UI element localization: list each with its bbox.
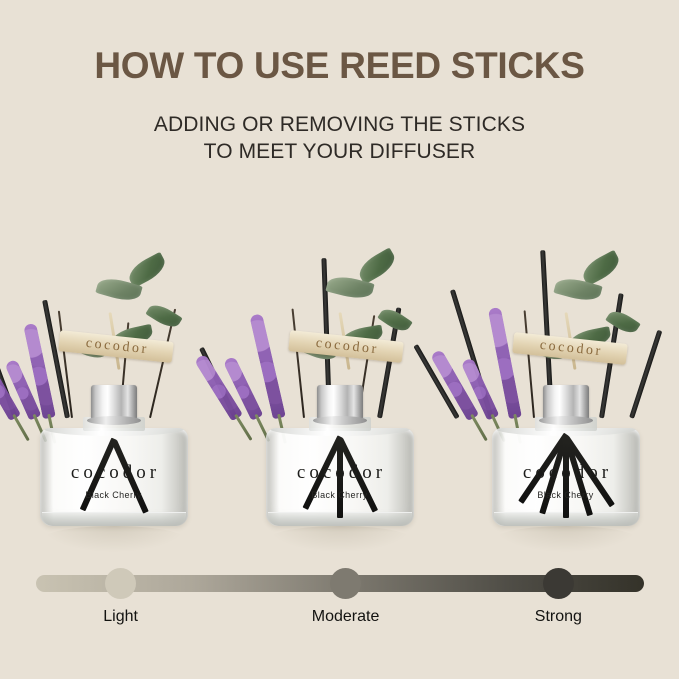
bottle-scent-label: Black Cherry — [492, 490, 640, 500]
slider-knob-moderate[interactable] — [330, 568, 361, 599]
slider-labels: Light Moderate Strong — [36, 608, 644, 630]
product-moderate: cocodor cocodor Black Cherry — [227, 208, 453, 558]
page-title: HOW TO USE REED STICKS — [0, 46, 679, 86]
bottle-cap — [543, 385, 589, 419]
bottle-cap — [317, 385, 363, 419]
subtitle-line-1: ADDING OR REMOVING THE STICKS — [0, 112, 679, 139]
product-row: cocodor cocodor Black Cherry — [0, 208, 679, 558]
diffuser-bottle-moderate: cocodor Black Cherry — [266, 385, 414, 526]
bottle-body: cocodor Black Cherry — [492, 428, 640, 526]
slider-track[interactable] — [36, 575, 644, 592]
bottle-cap — [91, 385, 137, 419]
intensity-slider[interactable]: Light Moderate Strong — [0, 575, 679, 630]
slider-knob-strong[interactable] — [543, 568, 574, 599]
diffuser-bottle-strong: cocodor Black Cherry — [492, 385, 640, 526]
bottle-body: cocodor Black Cherry — [266, 428, 414, 526]
product-light: cocodor cocodor Black Cherry — [1, 208, 227, 558]
bottle-brand-label: cocodor — [266, 462, 414, 484]
bottle-reflection — [269, 526, 411, 552]
header: HOW TO USE REED STICKS ADDING OR REMOVIN… — [0, 0, 679, 166]
bottle-brand-label: cocodor — [40, 462, 188, 484]
subtitle-line-2: TO MEET YOUR DIFFUSER — [0, 139, 679, 166]
slider-knob-light[interactable] — [105, 568, 136, 599]
slider-label-strong: Strong — [535, 608, 582, 626]
hang-tag-label: cocodor — [536, 337, 603, 360]
bottle-scent-label: Black Cherry — [266, 490, 414, 500]
slider-label-moderate: Moderate — [312, 608, 380, 626]
bottle-brand-label: cocodor — [492, 462, 640, 484]
bottle-reflection — [43, 526, 185, 552]
slider-label-light: Light — [103, 608, 138, 626]
hang-tag-label: cocodor — [82, 335, 149, 358]
diffuser-bottle-light: cocodor Black Cherry — [40, 385, 188, 526]
page-subtitle: ADDING OR REMOVING THE STICKS TO MEET YO… — [0, 112, 679, 166]
bottle-body: cocodor Black Cherry — [40, 428, 188, 526]
bottle-scent-label: Black Cherry — [40, 490, 188, 500]
hang-tag-label: cocodor — [312, 335, 379, 358]
bottle-reflection — [495, 526, 637, 552]
product-strong: cocodor cocodor Black Cherry — [453, 208, 679, 558]
